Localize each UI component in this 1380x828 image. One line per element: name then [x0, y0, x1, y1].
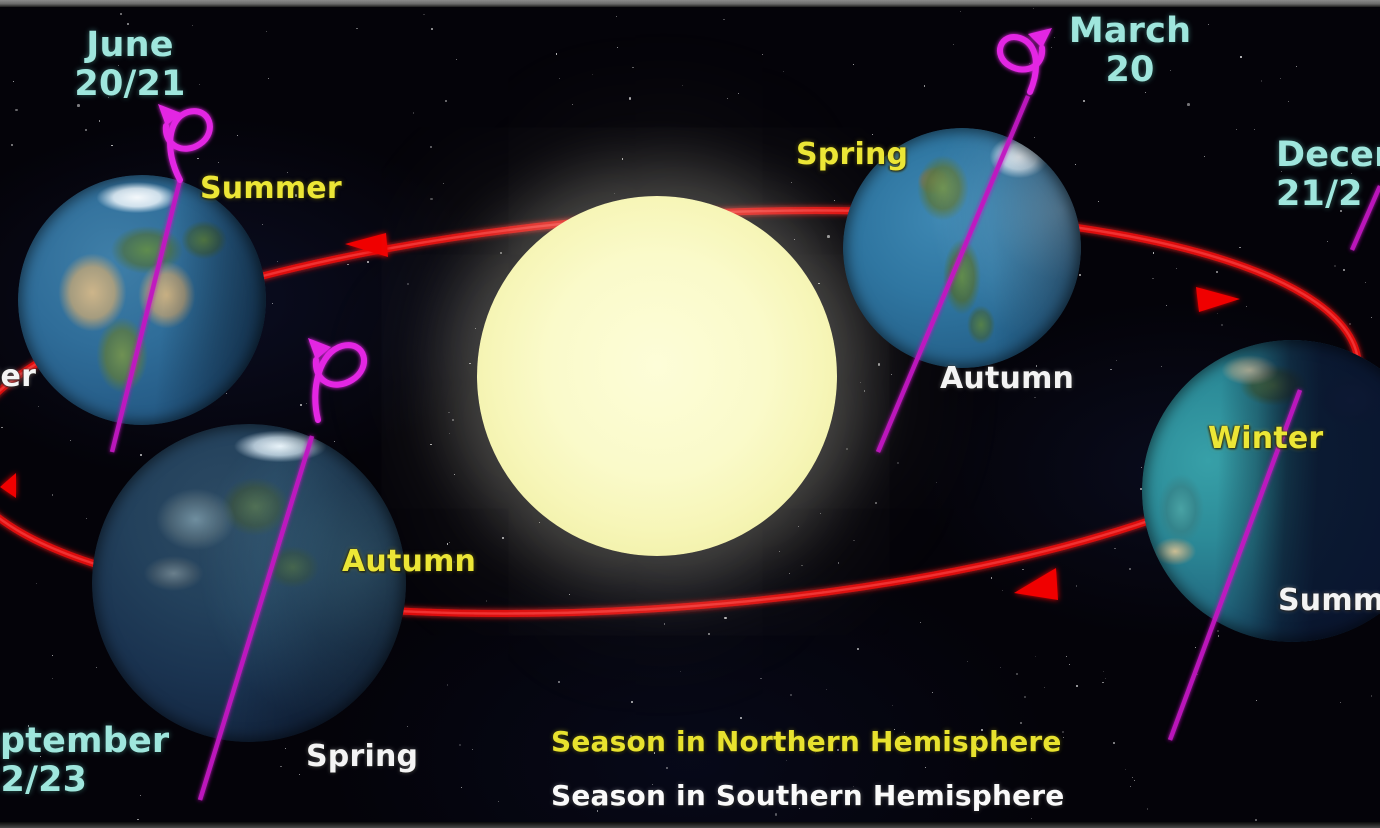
season-south-december: Summ [1278, 584, 1380, 618]
season-north-june: Summer [200, 172, 342, 206]
date-label-june: June 20/21 [40, 26, 220, 104]
date-label-march: March 20 [1050, 12, 1210, 90]
legend-northern: Season in Northern Hemisphere [551, 726, 1062, 757]
sun [477, 196, 837, 556]
frame-bottom-border [0, 822, 1380, 828]
seasons-diagram: June 20/21 Summer ter eptember 22/23 Aut… [0, 0, 1380, 828]
date-label-september: eptember 22/23 [0, 722, 169, 800]
earth-rim-shadow [18, 175, 266, 425]
frame-top-border [0, 0, 1380, 7]
season-north-march: Spring [796, 138, 908, 172]
earth-rim-shadow [92, 424, 406, 742]
season-north-september: Autumn [342, 545, 476, 579]
season-south-june: ter [0, 360, 36, 394]
earth-june-solstice [18, 175, 266, 425]
date-label-december: Decem 21/2 [1276, 136, 1380, 214]
season-south-september: Spring [306, 740, 418, 774]
earth-september-equinox [92, 424, 406, 742]
season-north-december: Winter [1208, 422, 1323, 456]
season-south-march: Autumn [940, 362, 1074, 396]
legend-southern: Season in Southern Hemisphere [551, 780, 1064, 811]
